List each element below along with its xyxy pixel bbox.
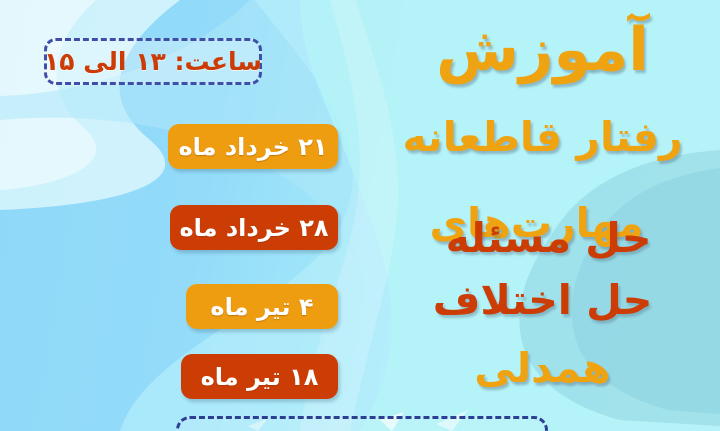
date-label-4: ۱۸ تیر ماه xyxy=(201,363,319,391)
time-badge: ساعت: ۱۳ الی ۱۵ xyxy=(44,38,262,85)
headline-empathy: همدلی xyxy=(365,348,720,389)
date-badge-1: ۲۱ خرداد ماه xyxy=(168,124,338,169)
date-badge-3: ۴ تیر ماه xyxy=(186,284,338,329)
date-label-2: ۲۸ خرداد ماه xyxy=(179,214,328,242)
headline-assertive-behavior: رفتار قاطعانه xyxy=(365,117,720,158)
date-label-3: ۴ تیر ماه xyxy=(210,293,313,321)
headline-column: آموزش رفتار قاطعانه مهارت‌های حل مسئله ح… xyxy=(355,0,720,431)
date-label-1: ۲۱ خرداد ماه xyxy=(178,133,327,161)
date-badge-4: ۱۸ تیر ماه xyxy=(181,354,338,399)
date-badge-2: ۲۸ خرداد ماه xyxy=(170,205,338,250)
page-title: آموزش xyxy=(365,20,720,80)
headline-problem-solving: حل مسئله xyxy=(371,218,720,259)
headline-conflict-resolution: حل اختلاف xyxy=(365,280,720,321)
time-label: ساعت: ۱۳ الی ۱۵ xyxy=(44,47,262,76)
schedule-column: ساعت: ۱۳ الی ۱۵ ۲۱ خرداد ماه ۲۸ خرداد ما… xyxy=(0,0,355,431)
poster-canvas: ساعت: ۱۳ الی ۱۵ ۲۱ خرداد ماه ۲۸ خرداد ما… xyxy=(0,0,720,431)
